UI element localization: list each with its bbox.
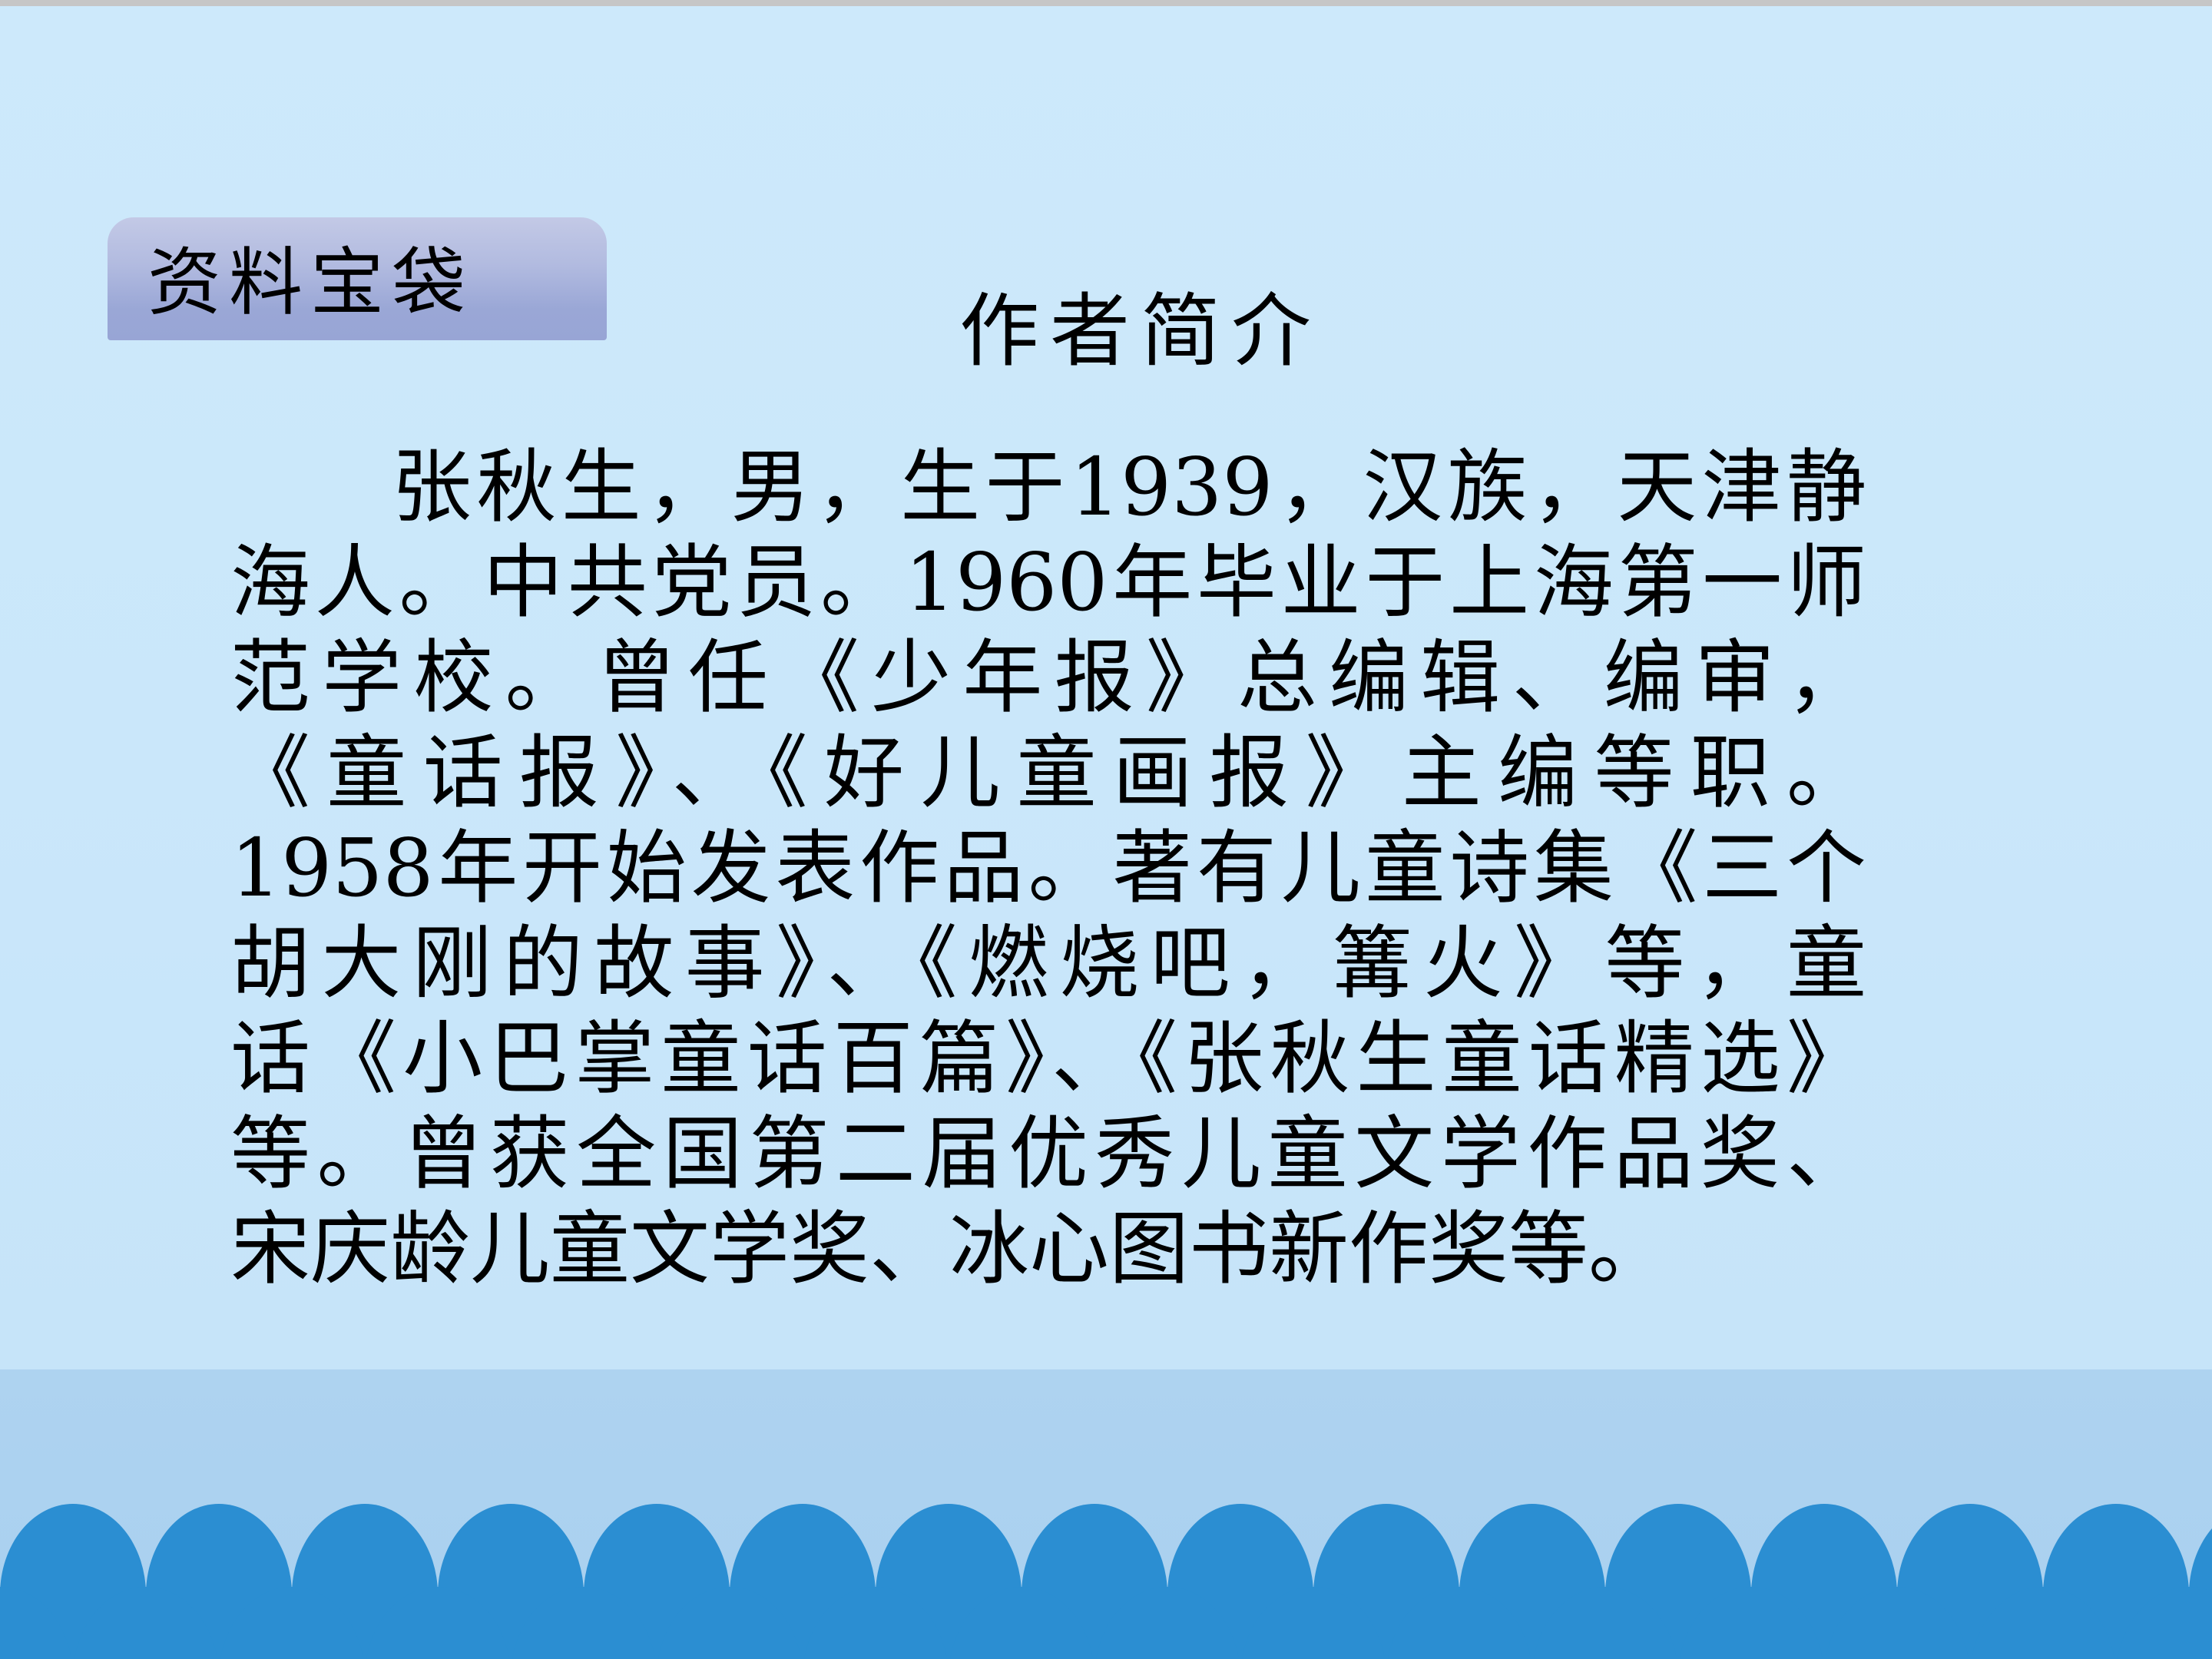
scallop-arch <box>803 1587 949 1659</box>
body-line: 《童话报》、《好儿童画报》主编等职。 <box>230 725 1866 820</box>
body-line: 胡大刚的故事》、《燃烧吧，篝火》等，童 <box>230 916 1866 1011</box>
scallop-arch <box>73 1587 219 1659</box>
scallop-arch <box>511 1587 657 1659</box>
scallop-arch <box>949 1587 1094 1659</box>
scallop-arch <box>1386 1587 1532 1659</box>
body-line: 范学校。曾任《少年报》总编辑、编审， <box>230 630 1866 725</box>
bottom-decoration-band <box>0 1369 2212 1659</box>
page-title: 作者简介 <box>0 286 2212 376</box>
scallop-arch <box>1824 1587 1970 1659</box>
scallop-arch <box>219 1587 365 1659</box>
scallop-arch <box>1678 1587 1824 1659</box>
scallop-arch <box>1970 1587 2116 1659</box>
scallop-arch <box>0 1587 73 1659</box>
author-bio-text: 张秋生，男，生于1939，汉族，天津静 海人。中共党员。1960年毕业于上海第一… <box>230 439 1866 1296</box>
scallop-arch <box>657 1587 803 1659</box>
top-strip <box>0 0 2212 6</box>
scallop-arch <box>1532 1587 1678 1659</box>
body-line: 海人。中共党员。1960年毕业于上海第一师 <box>230 535 1866 630</box>
body-line: 话《小巴掌童话百篇》、《张秋生童话精选》 <box>230 1011 1866 1106</box>
scallop-arch <box>365 1587 511 1659</box>
body-line: 等。曾获全国第二届优秀儿童文学作品奖、 <box>230 1106 1866 1201</box>
scallop-arch <box>2116 1587 2212 1659</box>
scallop-arch <box>1240 1587 1386 1659</box>
slide-canvas: 资料宝袋 作者简介 张秋生，男，生于1939，汉族，天津静 海人。中共党员。19… <box>0 0 2212 1659</box>
scallop-arch <box>1094 1587 1240 1659</box>
body-line: 张秋生，男，生于1939，汉族，天津静 <box>230 439 1866 535</box>
body-line: 1958年开始发表作品。著有儿童诗集《三个 <box>230 820 1866 916</box>
scallop-row-front <box>0 1587 2212 1659</box>
body-line: 宋庆龄儿童文学奖、冰心图书新作奖等。 <box>230 1201 1866 1296</box>
